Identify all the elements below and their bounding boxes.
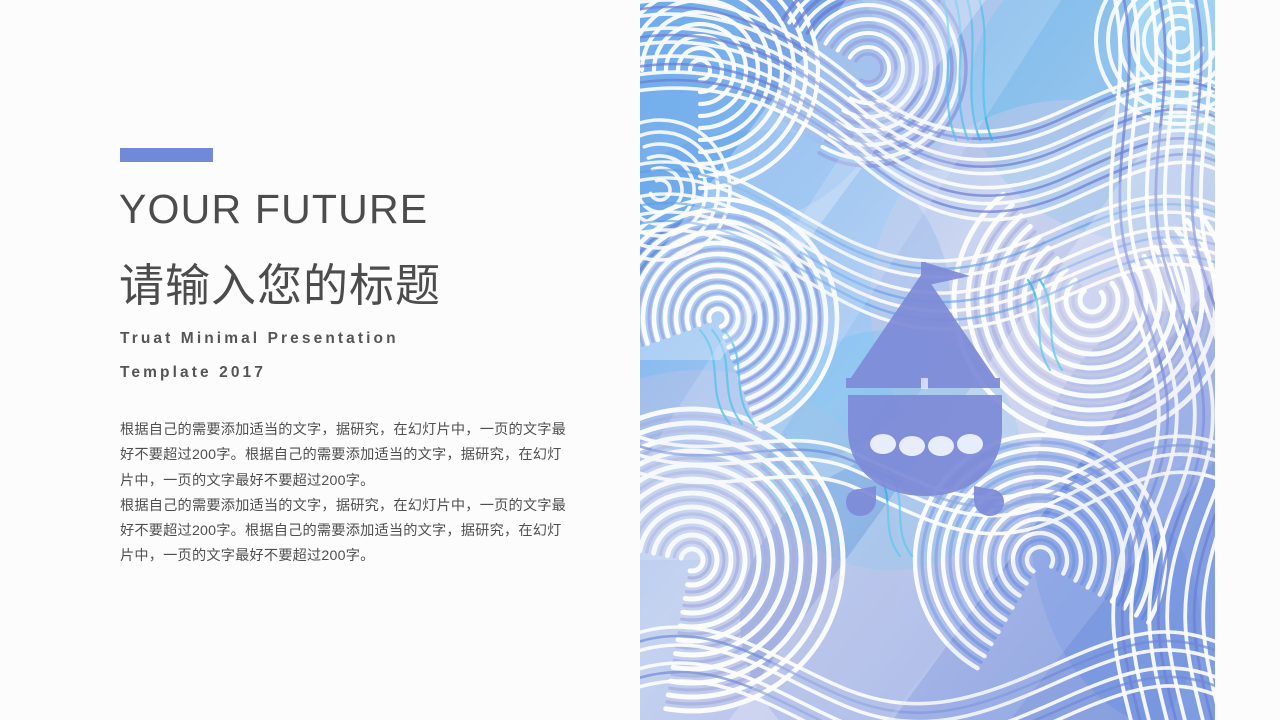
swirl-wave-illustration <box>640 0 1215 720</box>
body-paragraph-2: 根据自己的需要添加适当的文字，据研究，在幻灯片中，一页的文字最好不要超过200字… <box>120 494 572 570</box>
eyebrow-title: YOUR FUTURE <box>119 189 428 230</box>
body-copy-block: 根据自己的需要添加适当的文字，据研究，在幻灯片中，一页的文字最好不要超过200字… <box>120 418 572 570</box>
subtitle-line-1: Truat Minimal Presentation <box>120 322 540 356</box>
mast-notch <box>921 378 928 389</box>
left-text-panel: YOUR FUTURE 请输入您的标题 Truat Minimal Presen… <box>0 0 640 720</box>
subtitle-block: Truat Minimal Presentation Template 2017 <box>120 322 540 390</box>
page-title: 请输入您的标题 <box>119 262 441 309</box>
slide-root: YOUR FUTURE 请输入您的标题 Truat Minimal Presen… <box>0 0 1280 720</box>
accent-bar <box>120 148 213 162</box>
artwork-panel <box>640 0 1215 720</box>
body-paragraph-1: 根据自己的需要添加适当的文字，据研究，在幻灯片中，一页的文字最好不要超过200字… <box>120 418 572 494</box>
right-gutter <box>1215 0 1280 720</box>
subtitle-line-2: Template 2017 <box>120 356 540 390</box>
